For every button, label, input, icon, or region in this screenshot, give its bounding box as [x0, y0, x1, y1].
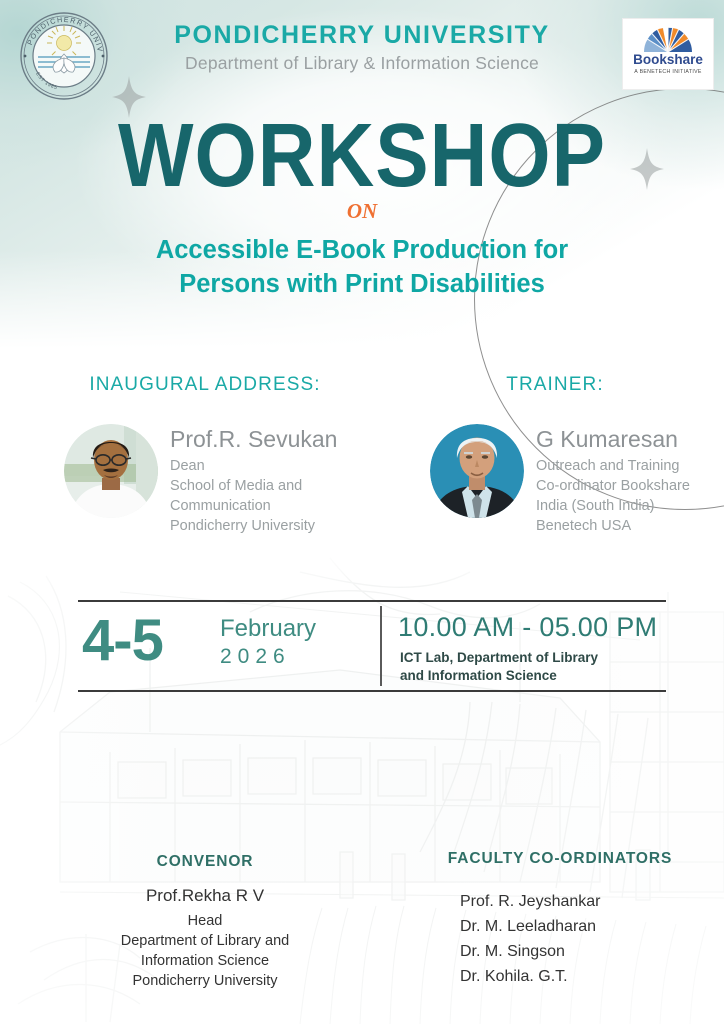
- subtitle-line-2: Persons with Print Disabilities: [179, 270, 545, 298]
- list-item: Dr. M. Singson: [460, 940, 601, 965]
- convenor-heading: CONVENOR: [50, 853, 360, 871]
- bookshare-logo: Bookshare A BENETECH INITIATIVE: [622, 18, 714, 90]
- speaker-role-2-line2: Co-ordinator Bookshare: [536, 477, 724, 497]
- trainer-heading: TRAINER:: [420, 374, 690, 396]
- faculty-coordinators-heading: FACULTY CO-ORDINATORS: [420, 850, 700, 868]
- speaker-role-1-line3: Communication: [170, 497, 390, 517]
- page-title: WORKSHOP: [0, 104, 724, 207]
- event-venue: ICT Lab, Department of Library and Infor…: [400, 649, 650, 685]
- convenor-role-line1: Head: [44, 911, 366, 931]
- band-top-rule: [78, 600, 666, 602]
- speaker-role-2-line1: Outreach and Training: [536, 457, 724, 477]
- convenor-role-line3: Information Science: [44, 951, 366, 971]
- venue-line-2: and Information Science: [400, 668, 557, 683]
- bookshare-sunburst-icon: [638, 22, 698, 52]
- speaker-role-1-line4: Pondicherry University: [170, 517, 390, 537]
- faculty-coordinators-list: Prof. R. Jeyshankar Dr. M. Leeladharan D…: [460, 890, 601, 990]
- list-item: Prof. R. Jeyshankar: [460, 890, 601, 915]
- speaker-name-2: G Kumaresan: [536, 426, 678, 453]
- event-dates: 4-5: [82, 612, 163, 670]
- poster-header: PONDICHERRY UNIVERSITY EST 1985 PONDICHE…: [0, 0, 724, 110]
- bookshare-tagline: A BENETECH INITIATIVE: [634, 69, 702, 75]
- convenor-role-line2: Department of Library and: [44, 931, 366, 951]
- subtitle-line-1: Accessible E-Book Production for: [156, 236, 568, 264]
- inaugural-address-heading: INAUGURAL ADDRESS:: [60, 374, 350, 396]
- department-name: Department of Library & Information Scie…: [0, 53, 724, 74]
- convenor-role-line4: Pondicherry University: [44, 971, 366, 991]
- convenor-role: Head Department of Library and Informati…: [44, 911, 366, 991]
- workshop-poster: PONDICHERRY UNIVERSITY EST 1985 PONDICHE…: [0, 0, 724, 1024]
- list-item: Dr. Kohila. G.T.: [460, 965, 601, 990]
- event-month: February: [220, 616, 316, 642]
- portrait-photo-kumaresan-icon: [430, 424, 524, 518]
- bookshare-wordmark: Bookshare: [633, 53, 703, 67]
- event-time: 10.00 AM - 05.00 PM: [398, 612, 657, 643]
- convenor-name: Prof.Rekha R V: [50, 886, 360, 906]
- venue-line-1: ICT Lab, Department of Library: [400, 650, 598, 665]
- speaker-role-1-line1: Dean: [170, 457, 390, 477]
- event-details-band: 4-5 February 2026 10.00 AM - 05.00 PM IC…: [78, 608, 666, 690]
- speaker-role-2: Outreach and Training Co-ordinator Books…: [536, 457, 724, 536]
- list-item: Dr. M. Leeladharan: [460, 915, 601, 940]
- event-year: 2026: [220, 645, 291, 669]
- speaker-name-1: Prof.R. Sevukan: [170, 426, 337, 453]
- workshop-subtitle: Accessible E-Book Production for Persons…: [62, 234, 662, 301]
- band-bottom-rule: [78, 690, 666, 692]
- university-name: PONDICHERRY UNIVERSITY: [0, 22, 724, 48]
- title-connector: ON: [0, 199, 724, 224]
- speaker-role-1-line2: School of Media and: [170, 477, 390, 497]
- speaker-role-2-line3: India (South India): [536, 497, 724, 517]
- speaker-role-2-line4: Benetech USA: [536, 517, 724, 537]
- portrait-photo-sevukan-icon: [64, 424, 158, 518]
- speaker-role-1: Dean School of Media and Communication P…: [170, 457, 390, 536]
- band-divider: [380, 606, 382, 686]
